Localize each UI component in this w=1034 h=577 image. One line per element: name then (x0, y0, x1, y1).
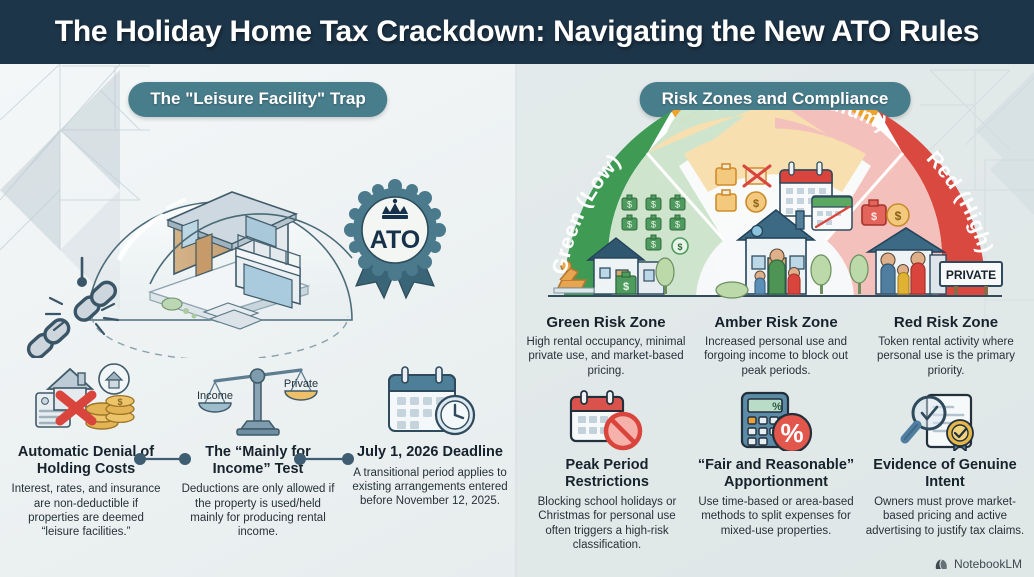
scale-private-label: Private (284, 378, 318, 390)
zone-desc: Increased personal use and forgoing inco… (696, 335, 856, 378)
svg-text:$: $ (117, 397, 122, 407)
svg-text:%: % (780, 418, 803, 448)
balance-scales-icon: Income Private (183, 359, 333, 437)
house-denied-money-icon: $ (11, 359, 161, 437)
zone-title: Green Risk Zone (546, 314, 665, 331)
risk-gauge-chart: $ $ $ $ $ $ $ $ (524, 110, 1026, 308)
zone-title: Amber Risk Zone (714, 314, 837, 331)
zone-item-amber: Amber Risk Zone Increased personal use a… (696, 314, 856, 378)
svg-text:$: $ (651, 200, 656, 210)
header-bar: The Holiday Home Tax Crackdown: Navigati… (0, 0, 1034, 64)
calendar-blocked-icon (559, 389, 655, 451)
private-sign-text: PRIVATE (946, 268, 996, 282)
compliance-item-genuine-intent: Evidence of Genuine Intent Owners must p… (862, 389, 1028, 552)
watermark-label: NotebookLM (954, 557, 1022, 571)
step-desc: Deductions are only allowed if the prope… (180, 482, 336, 540)
svg-text:$: $ (627, 200, 632, 210)
step-desc: A transitional period applies to existin… (352, 466, 508, 509)
infographic-root: The Holiday Home Tax Crackdown: Navigati… (0, 0, 1034, 577)
zone-item-red: Red Risk Zone Token rental activity wher… (866, 314, 1026, 378)
svg-text:$: $ (675, 220, 680, 230)
compliance-desc: Use time-based or area-based methods to … (693, 495, 859, 538)
svg-text:$: $ (651, 220, 656, 230)
svg-text:$: $ (895, 209, 902, 223)
magnifier-certificate-icon (897, 389, 993, 451)
ato-badge-text: ATO (370, 226, 420, 254)
left-panel: The "Leisure Facility" Trap (0, 64, 516, 577)
svg-text:$: $ (677, 242, 682, 252)
page-title: The Holiday Home Tax Crackdown: Navigati… (55, 15, 979, 49)
compliance-title: Peak Period Restrictions (524, 457, 690, 490)
ato-badge-icon: ATO (344, 179, 446, 298)
step-desc: Interest, rates, and insurance are non-d… (8, 482, 164, 540)
svg-text:$: $ (627, 220, 632, 230)
compliance-desc: Blocking school holidays or Christmas fo… (524, 495, 690, 552)
step-connector (0, 449, 516, 469)
right-panel: Risk Zones and Compliance (516, 64, 1034, 577)
zone-desc: Token rental activity where personal use… (866, 335, 1026, 378)
compliance-title: Evidence of Genuine Intent (862, 457, 1028, 490)
svg-text:$: $ (753, 198, 759, 210)
compliance-desc: Owners must prove market-based pricing a… (862, 495, 1028, 538)
notebooklm-watermark: NotebookLM (934, 557, 1022, 571)
compliance-item-peak-period: Peak Period Restrictions Blocking school… (524, 389, 690, 552)
leisure-facility-illustration: ATO (0, 108, 516, 358)
risk-zone-caption-row: Green Risk Zone High rental occupancy, m… (526, 314, 1026, 378)
calculator-percent-icon: % % (728, 389, 824, 451)
scale-income-label: Income (197, 390, 233, 402)
compliance-item-apportionment: % % (693, 389, 859, 552)
calendar-clock-icon (355, 359, 505, 437)
svg-text:%: % (772, 401, 782, 413)
svg-text:$: $ (623, 281, 629, 293)
zone-item-green: Green Risk Zone High rental occupancy, m… (526, 314, 686, 378)
zone-title: Red Risk Zone (894, 314, 998, 331)
compliance-title: “Fair and Reasonable” Apportionment (693, 457, 859, 490)
zone-desc: High rental occupancy, minimal private u… (526, 335, 686, 378)
compliance-row: Peak Period Restrictions Blocking school… (524, 389, 1028, 552)
svg-text:$: $ (651, 240, 656, 250)
notebooklm-logo-icon (934, 558, 949, 571)
svg-text:$: $ (675, 200, 680, 210)
svg-text:$: $ (871, 211, 877, 223)
